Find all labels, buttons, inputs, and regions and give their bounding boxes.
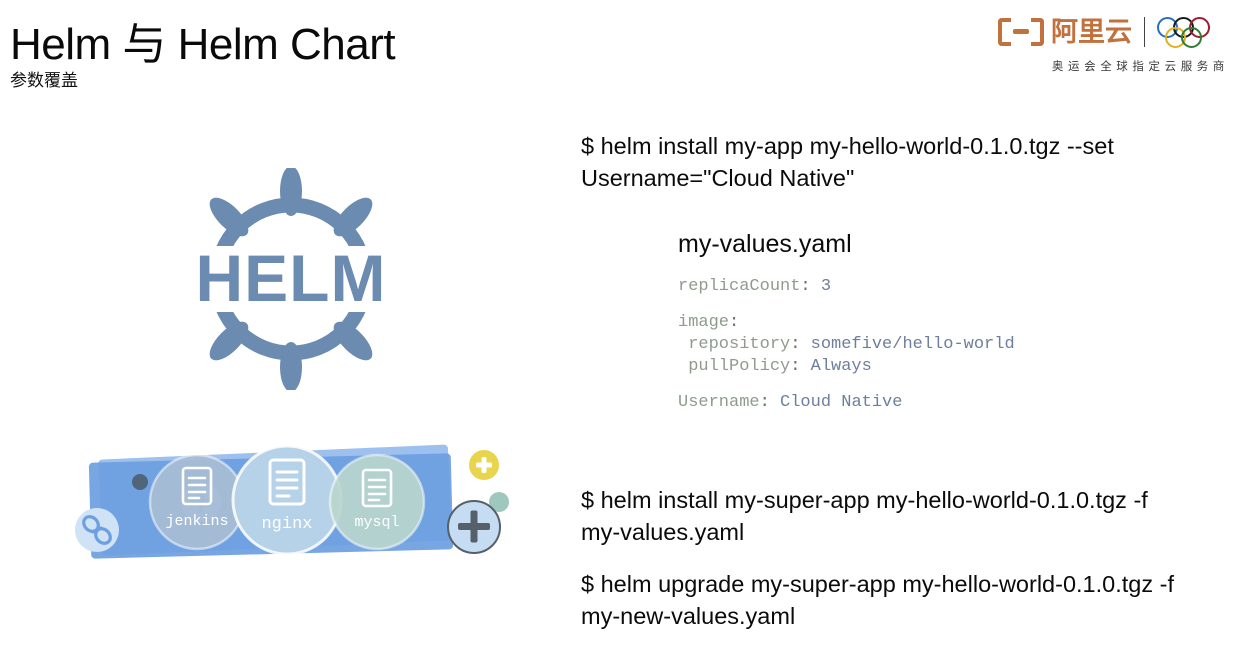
page-subtitle: 参数覆盖 xyxy=(10,66,78,91)
yaml-colon: : xyxy=(790,335,800,354)
chart-circle-jenkins: jenkins xyxy=(150,455,244,549)
link-icon xyxy=(75,508,119,552)
alibaba-cloud-mark-icon xyxy=(998,18,1044,46)
yaml-line: image: xyxy=(678,312,1158,334)
page-title: Helm 与 Helm Chart xyxy=(10,8,395,72)
yaml-blank-line xyxy=(678,298,1158,312)
yaml-key: pullPolicy xyxy=(678,357,790,376)
chart-label-jenkins: jenkins xyxy=(165,513,228,530)
yaml-line: pullPolicy: Always xyxy=(678,356,1158,378)
yaml-colon: : xyxy=(800,277,810,296)
add-chart-plus-icon xyxy=(448,501,500,553)
charts-illustration-svg: jenkins nginx mysql xyxy=(62,440,522,562)
olympic-rings-icon xyxy=(1157,15,1231,49)
helm-wheel-icon: HELM xyxy=(168,168,414,390)
yaml-value: somefive/hello-world xyxy=(800,335,1014,354)
add-badge-icon xyxy=(469,450,499,480)
brand-logo: 阿里云 奥运会全球指定云服务商 xyxy=(981,10,1231,82)
brand-divider xyxy=(1144,17,1145,47)
chart-label-nginx: nginx xyxy=(261,515,312,534)
helm-logo: HELM xyxy=(168,168,414,390)
yaml-blank-line xyxy=(678,378,1158,392)
alibaba-cloud-logo: 阿里云 xyxy=(998,18,1132,46)
yaml-value: 3 xyxy=(811,277,831,296)
yaml-filename: my-values.yaml xyxy=(678,228,1158,260)
command-upgrade-with-values-file: $ helm upgrade my-super-app my-hello-wor… xyxy=(581,568,1181,632)
alibaba-cloud-name: 阿里云 xyxy=(1051,19,1132,46)
yaml-line: replicaCount: 3 xyxy=(678,276,1158,298)
yaml-code: replicaCount: 3image: repository: somefi… xyxy=(678,276,1158,414)
card-dot-icon xyxy=(132,474,148,490)
chart-circle-nginx: nginx xyxy=(233,446,341,554)
yaml-block: my-values.yaml replicaCount: 3image: rep… xyxy=(678,228,1158,414)
yaml-key: replicaCount xyxy=(678,277,800,296)
brand-logo-row: 阿里云 xyxy=(981,10,1231,54)
command-install-with-values-file: $ helm install my-super-app my-hello-wor… xyxy=(581,484,1181,548)
chart-circle-mysql: mysql xyxy=(330,455,424,549)
command-install-with-set: $ helm install my-app my-hello-world-0.1… xyxy=(581,130,1181,194)
yaml-colon: : xyxy=(790,357,800,376)
svg-text:HELM: HELM xyxy=(196,241,387,315)
yaml-key: image xyxy=(678,313,729,332)
helm-charts-illustration: jenkins nginx mysql xyxy=(62,440,522,562)
yaml-line: repository: somefive/hello-world xyxy=(678,334,1158,356)
yaml-value: Cloud Native xyxy=(770,393,903,412)
chart-label-mysql: mysql xyxy=(354,514,399,531)
brand-tagline: 奥运会全球指定云服务商 xyxy=(981,58,1231,74)
yaml-colon: : xyxy=(729,313,739,332)
yaml-key: Username xyxy=(678,393,760,412)
yaml-colon: : xyxy=(760,393,770,412)
yaml-key: repository xyxy=(678,335,790,354)
yaml-line: Username: Cloud Native xyxy=(678,392,1158,414)
yaml-value: Always xyxy=(800,357,871,376)
